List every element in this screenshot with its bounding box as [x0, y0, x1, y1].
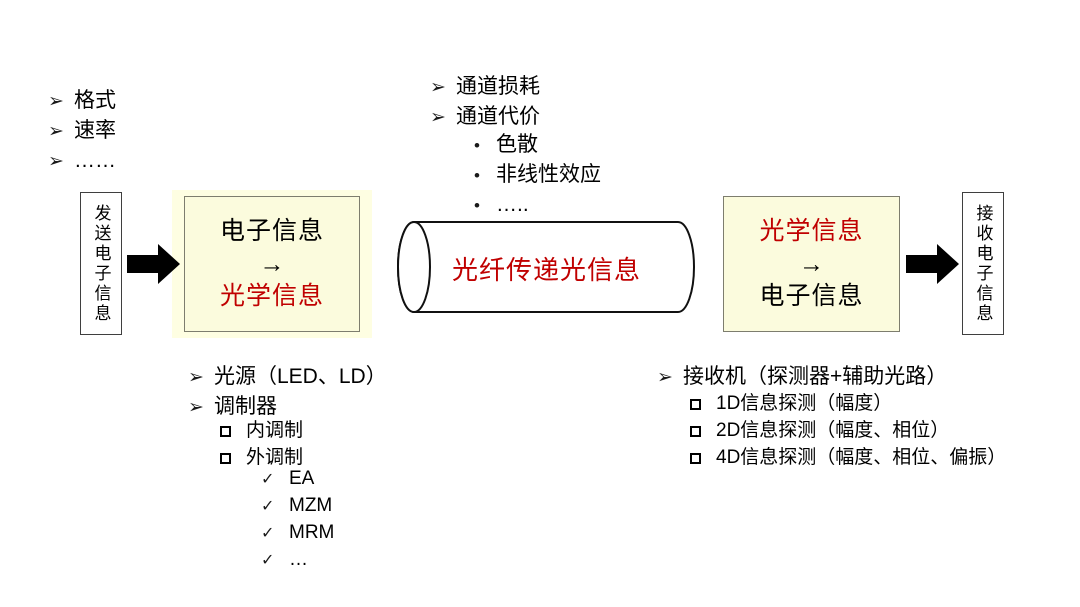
list-item: ✓ EA — [261, 466, 334, 493]
transmitter-line-1: 电子信息 — [220, 215, 324, 248]
list-item-label: 色散 — [496, 130, 538, 159]
list-item: 2D信息探测（幅度、相位） — [690, 418, 1006, 445]
list-item-label: 速率 — [74, 116, 116, 145]
bottom-left-check-list: ✓ EA ✓ MZM ✓ MRM ✓ … — [261, 466, 334, 574]
list-item: • 非线性效应 — [458, 160, 601, 190]
list-item-label: … — [289, 547, 308, 573]
list-item: ➢ 通道代价 — [430, 102, 540, 132]
list-item: 内调制 — [220, 418, 303, 445]
list-item: • ….. — [458, 190, 601, 220]
list-item-label: 通道损耗 — [456, 72, 540, 101]
list-item: • 色散 — [458, 130, 601, 160]
list-item-label: EA — [289, 466, 314, 492]
list-item: ➢ 通道损耗 — [430, 72, 540, 102]
list-item-label: MZM — [289, 493, 332, 519]
list-item: ✓ MRM — [261, 520, 334, 547]
list-item: ➢ 接收机（探测器+辅助光路） — [657, 362, 947, 392]
bottom-right-square-list: 1D信息探测（幅度） 2D信息探测（幅度、相位） 4D信息探测（幅度、相位、偏振… — [690, 391, 1006, 472]
arrow-source-to-transmitter — [127, 243, 181, 285]
fiber-label: 光纤传递光信息 — [452, 250, 641, 287]
list-item-label: 格式 — [74, 86, 116, 115]
dot-bullet-icon: • — [458, 161, 496, 190]
list-item: ✓ … — [261, 547, 334, 574]
square-bullet-icon — [690, 392, 716, 418]
top-center-bullet-list: ➢ 通道损耗 ➢ 通道代价 — [430, 72, 540, 132]
check-bullet-icon: ✓ — [261, 521, 289, 547]
square-bullet-icon — [220, 419, 246, 445]
list-item-label: 光源（LED、LD） — [214, 362, 387, 391]
square-bullet-icon — [690, 446, 716, 472]
arrow-bullet-icon: ➢ — [430, 73, 456, 102]
list-item-label: 接收机（探测器+辅助光路） — [683, 362, 947, 391]
bottom-right-bullet-list: ➢ 接收机（探测器+辅助光路） — [657, 362, 947, 392]
sink-block-label: 接收电子信息 — [975, 204, 992, 324]
list-item-label: 调制器 — [214, 392, 277, 421]
top-center-sublist: • 色散 • 非线性效应 • ….. — [458, 130, 601, 220]
source-block-label: 发送电子信息 — [93, 204, 110, 324]
list-item-label: 2D信息探测（幅度、相位） — [716, 418, 949, 444]
arrow-bullet-icon: ➢ — [430, 103, 456, 132]
list-item-label: 非线性效应 — [496, 160, 601, 189]
receiver-block: 光学信息 → 电子信息 — [723, 196, 900, 332]
arrow-bullet-icon: ➢ — [48, 147, 74, 176]
transmitter-line-2: 光学信息 — [220, 280, 324, 313]
list-item: 4D信息探测（幅度、相位、偏振） — [690, 445, 1006, 472]
sink-block: 接收电子信息 — [962, 192, 1004, 335]
arrow-bullet-icon: ➢ — [48, 117, 74, 146]
list-item: 1D信息探测（幅度） — [690, 391, 1006, 418]
list-item-label: MRM — [289, 520, 334, 546]
transmitter-arrow-icon: → — [260, 248, 285, 280]
list-item: ➢ 速率 — [48, 116, 116, 146]
arrow-bullet-icon: ➢ — [657, 363, 683, 392]
transmitter-block: 电子信息 → 光学信息 — [184, 196, 360, 332]
receiver-line-1: 光学信息 — [759, 215, 863, 248]
bottom-left-bullet-list: ➢ 光源（LED、LD） ➢ 调制器 — [188, 362, 387, 422]
list-item-label: 通道代价 — [456, 102, 540, 131]
source-block: 发送电子信息 — [80, 192, 122, 335]
list-item: ✓ MZM — [261, 493, 334, 520]
dot-bullet-icon: • — [458, 131, 496, 160]
check-bullet-icon: ✓ — [261, 548, 289, 574]
receiver-line-2: 电子信息 — [759, 280, 863, 313]
arrow-receiver-to-sink — [906, 243, 960, 285]
arrow-bullet-icon: ➢ — [48, 87, 74, 116]
list-item-label: ….. — [496, 190, 529, 219]
check-bullet-icon: ✓ — [261, 494, 289, 520]
arrow-bullet-icon: ➢ — [188, 393, 214, 422]
list-item-label: 1D信息探测（幅度） — [716, 391, 892, 417]
square-bullet-icon — [220, 446, 246, 472]
top-left-bullet-list: ➢ 格式 ➢ 速率 ➢ …… — [48, 86, 116, 176]
list-item-label: …… — [74, 146, 116, 175]
receiver-arrow-icon: → — [799, 248, 824, 280]
list-item: ➢ …… — [48, 146, 116, 176]
square-bullet-icon — [690, 419, 716, 445]
list-item-label: 内调制 — [246, 418, 303, 444]
list-item-label: 4D信息探测（幅度、相位、偏振） — [716, 445, 1006, 471]
list-item: ➢ 格式 — [48, 86, 116, 116]
arrow-bullet-icon: ➢ — [188, 363, 214, 392]
check-bullet-icon: ✓ — [261, 467, 289, 493]
bottom-left-square-list: 内调制 外调制 — [220, 418, 303, 472]
list-item: ➢ 光源（LED、LD） — [188, 362, 387, 392]
dot-bullet-icon: • — [458, 191, 496, 220]
diagram-canvas: ➢ 格式 ➢ 速率 ➢ …… ➢ 通道损耗 ➢ 通道代价 • 色散 • 非线性效… — [0, 0, 1080, 607]
